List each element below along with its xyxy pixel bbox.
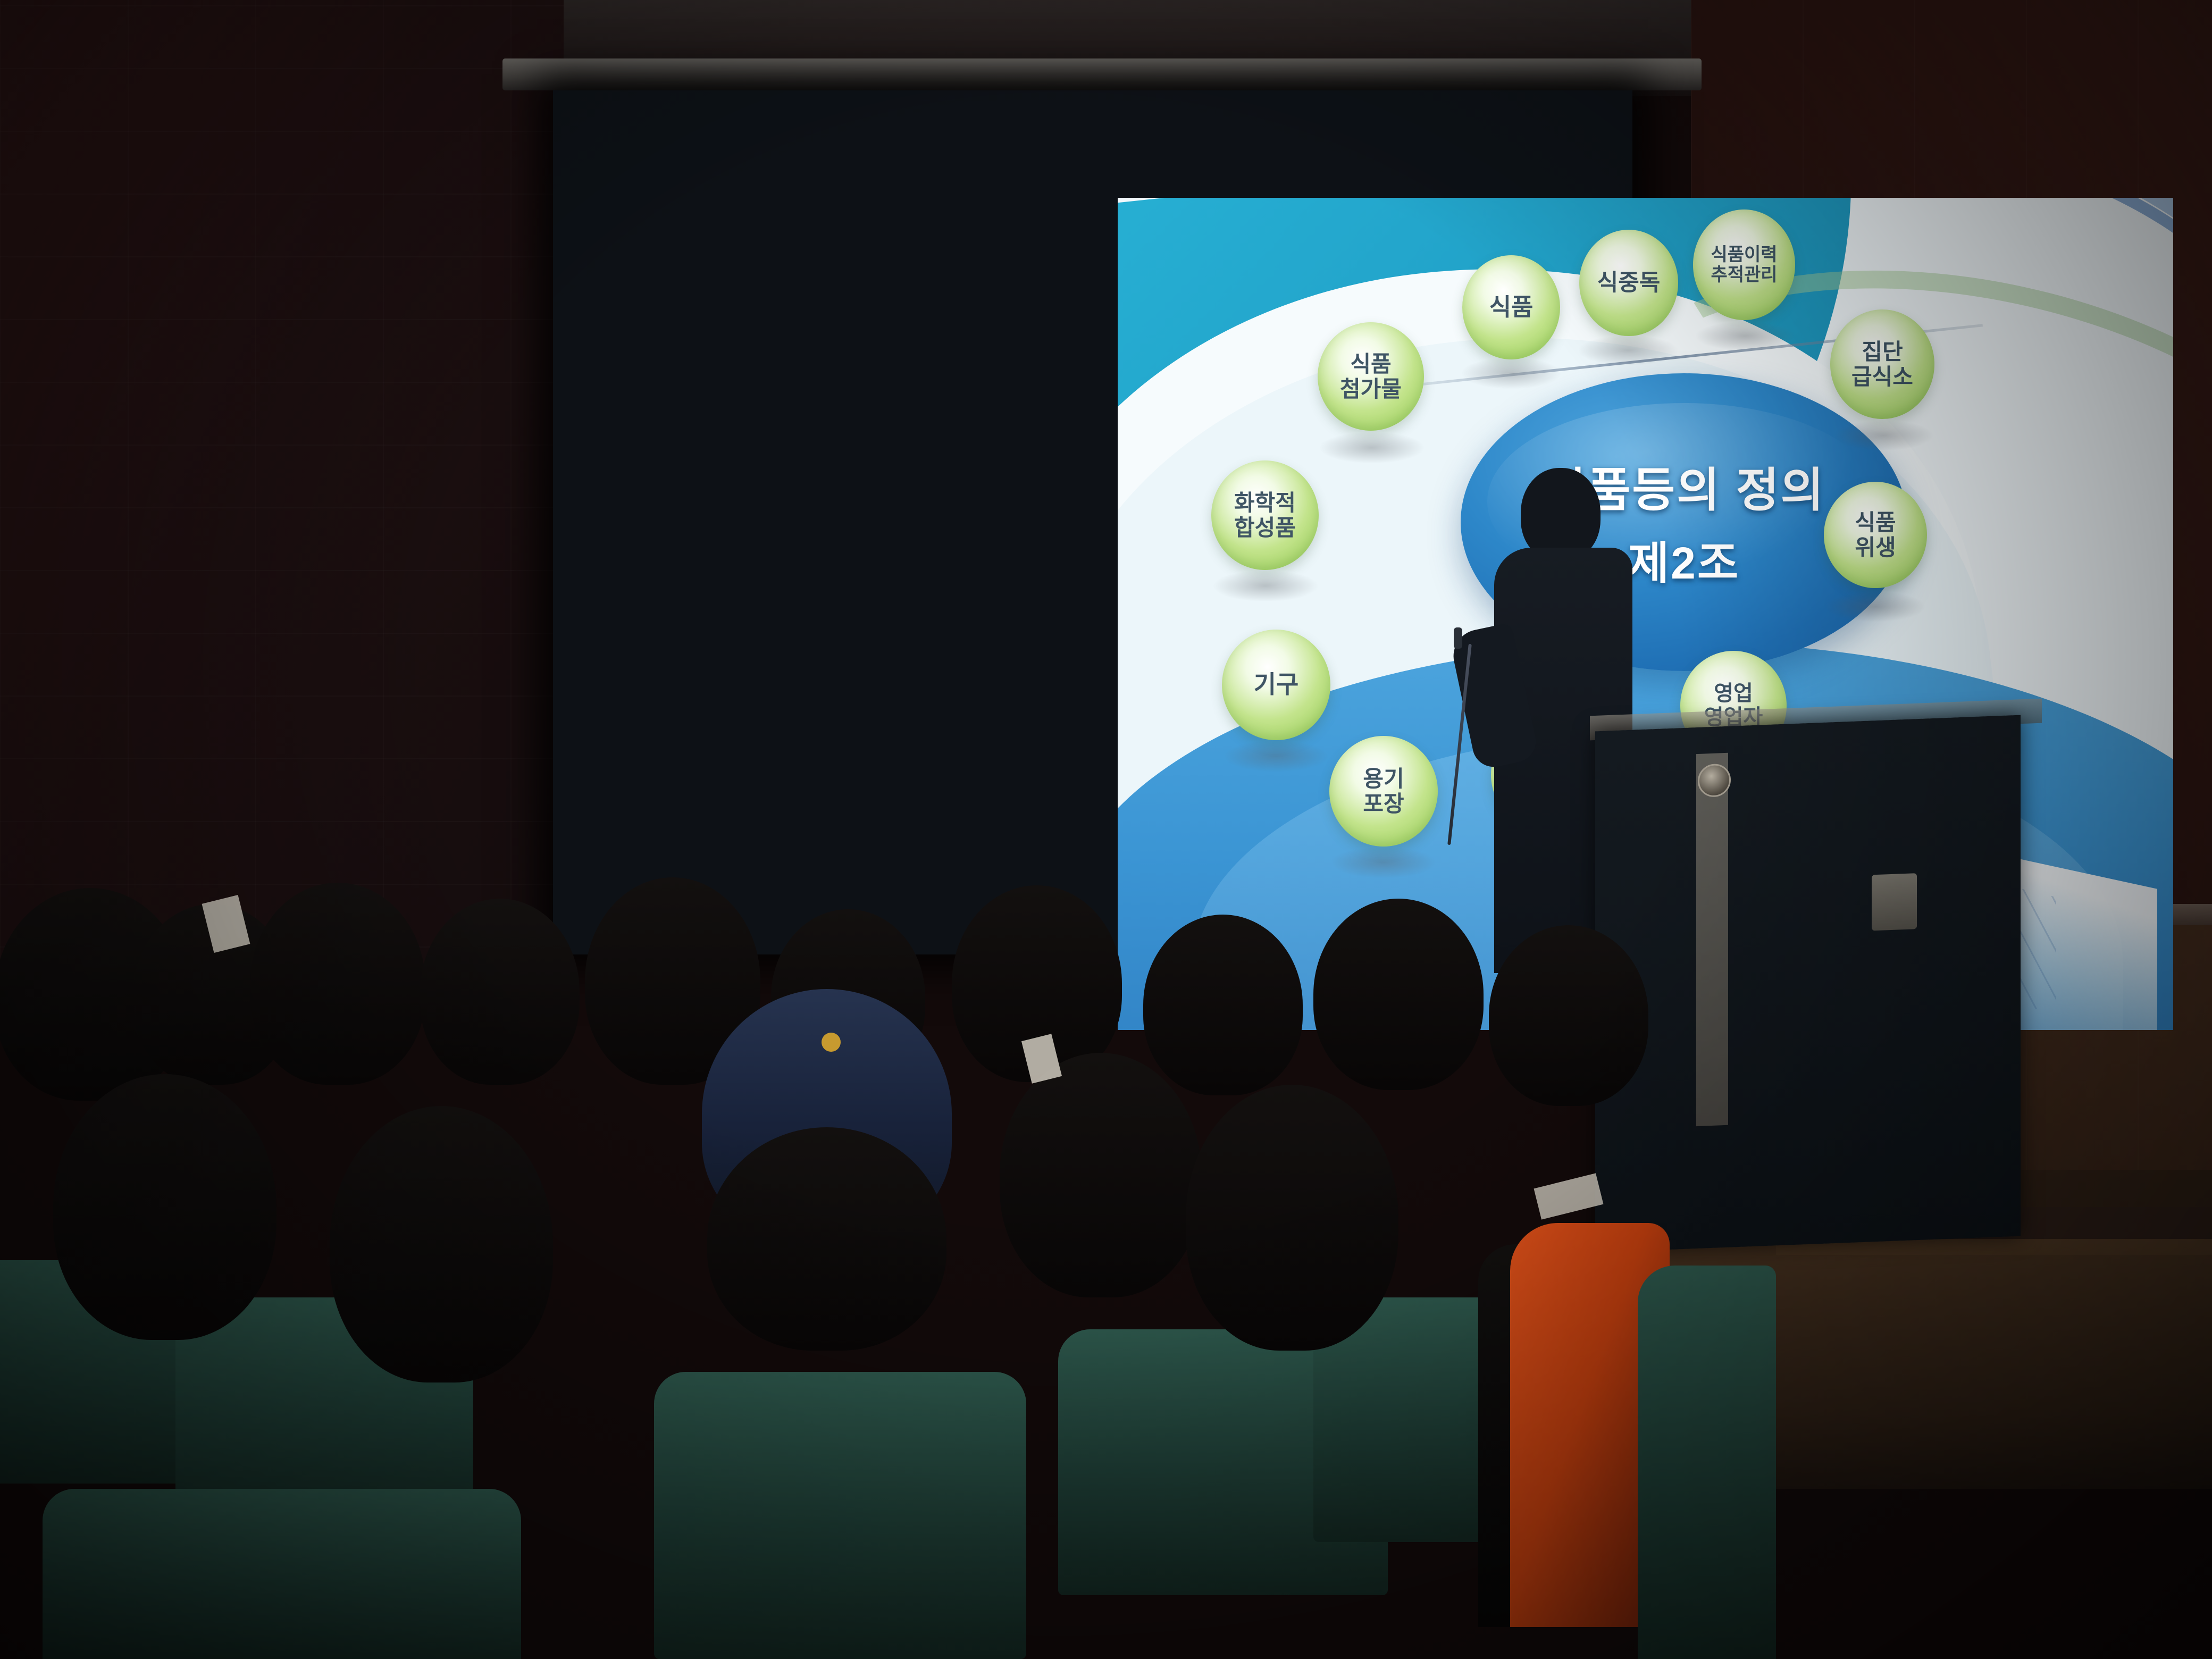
presenter-head — [1521, 468, 1601, 561]
bubble-shadow — [1212, 570, 1319, 602]
audience-head — [1489, 925, 1648, 1106]
bubble-label-line1: 집단 — [1862, 339, 1903, 364]
bubble-shadow — [1825, 591, 1926, 622]
microphone-icon — [1454, 627, 1462, 649]
seat-back — [43, 1489, 521, 1659]
bubble-label-line2: 합성품 — [1234, 515, 1296, 540]
bubble-shadow — [1330, 847, 1437, 878]
bubble-food-poisoning[interactable]: 식중독 — [1579, 230, 1678, 336]
bubble-label-line2: 추적관리 — [1711, 265, 1777, 285]
bubble-shadow — [1578, 335, 1679, 366]
bubble-shadow — [1461, 357, 1562, 389]
bubble-label-line1: 기구 — [1254, 671, 1299, 699]
audience-head — [1143, 915, 1303, 1095]
bubble-label-line2: 급식소 — [1851, 364, 1913, 389]
bubble-label-line1: 식품 — [1855, 510, 1896, 535]
bubble-shadow — [1833, 420, 1934, 451]
audience-head — [1000, 1053, 1202, 1297]
audience-head — [330, 1106, 553, 1382]
bubble-shadow — [1223, 740, 1329, 772]
bubble-chemical[interactable]: 화학적 합성품 — [1211, 460, 1319, 570]
bubble-label-line1: 화학적 — [1234, 490, 1296, 515]
cap-button — [822, 1033, 841, 1052]
bubble-food-additive[interactable]: 식품 첨가물 — [1318, 322, 1424, 431]
bubble-food[interactable]: 식품 — [1462, 255, 1560, 359]
bubble-label-line2: 위생 — [1855, 535, 1896, 560]
audience-head — [1313, 899, 1484, 1090]
podium-emblem — [1872, 873, 1917, 931]
bubble-label-line1: 영업 — [1714, 682, 1753, 706]
audience-head — [53, 1074, 276, 1340]
audience-head — [250, 883, 425, 1085]
bubble-shadow — [1319, 432, 1425, 464]
paper-tag — [1534, 1173, 1604, 1219]
bubble-label-line2: 첨가물 — [1340, 376, 1402, 401]
bubble-container[interactable]: 용기 포장 — [1329, 736, 1438, 847]
seat-back-front — [1638, 1266, 1776, 1659]
audience-seating — [0, 893, 1702, 1659]
audience-head — [420, 899, 580, 1085]
wall-left — [0, 0, 564, 1010]
auditorium-photo: 식품등의 정의 제2조 식품 — [0, 0, 2212, 1659]
bubble-shadow — [1695, 321, 1796, 351]
seat-back — [654, 1372, 1026, 1659]
bubble-label-line1: 식중독 — [1597, 270, 1661, 296]
bubble-label-line1: 용기 — [1363, 766, 1404, 791]
bubble-group-catering[interactable]: 집단 급식소 — [1830, 309, 1934, 419]
bubble-utensil[interactable]: 기구 — [1222, 630, 1330, 740]
screen-valance — [502, 58, 1702, 90]
bubble-label-line1: 식품 — [1489, 294, 1534, 321]
screen-frame: 식품등의 정의 제2조 식품 — [553, 90, 1632, 954]
bubble-label-line1: 식품이력 — [1711, 245, 1777, 265]
bubble-traceability[interactable]: 식품이력 추적관리 — [1693, 210, 1795, 320]
audience-head-under-cap — [707, 1127, 946, 1351]
bubble-label-line2: 포장 — [1363, 791, 1404, 816]
bubble-label-line1: 식품 — [1350, 351, 1391, 376]
bubble-food-hygiene[interactable]: 식품 위생 — [1824, 482, 1927, 588]
audience-head — [1186, 1085, 1398, 1351]
